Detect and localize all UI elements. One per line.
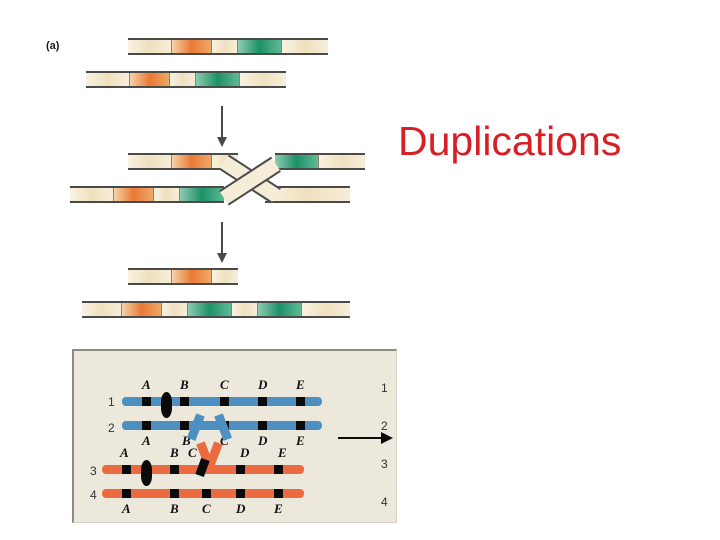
chromosome-deletion-product <box>128 268 238 285</box>
segment-cream <box>240 73 286 86</box>
gene-label-orange-bottom-e: E <box>274 501 283 517</box>
result-arrow-icon <box>338 437 382 439</box>
panel-label-a: (a) <box>46 40 59 52</box>
gene-label-blue-top-c: C <box>220 377 229 393</box>
chromosome-crossover-lower-left <box>70 186 224 203</box>
band-blue-2-d <box>258 421 267 430</box>
gene-label-blue-bottom-d: D <box>258 433 267 449</box>
gene-label-orange-bottom-b: B <box>170 501 179 517</box>
segment-cream <box>232 303 258 316</box>
band-blue-1-d <box>258 397 267 406</box>
segment-green <box>196 73 240 86</box>
gene-label-blue-top-b: B <box>180 377 189 393</box>
segment-cream <box>70 188 114 201</box>
band-blue-2-e <box>296 421 305 430</box>
gene-label-blue-top-d: D <box>258 377 267 393</box>
segment-orange <box>122 303 162 316</box>
gene-label-orange-top-b: B <box>170 445 179 461</box>
gene-label-blue-top-e: E <box>296 377 305 393</box>
band-orange-3-b <box>170 465 179 474</box>
segment-cream <box>212 270 238 283</box>
band-orange-3-a <box>122 465 131 474</box>
band-blue-2-a <box>142 421 151 430</box>
band-orange-4-c <box>202 489 211 498</box>
segment-orange <box>130 73 170 86</box>
band-orange-4-b <box>170 489 179 498</box>
labelled-chromosome-panel: 1 2 3 4 A B C D E A B C D E A B C D E <box>72 349 397 523</box>
row-number-left-1: 1 <box>108 395 115 409</box>
band-blue-1-e <box>296 397 305 406</box>
segment-orange <box>114 188 154 201</box>
centromere-blue <box>161 392 172 418</box>
row-number-left-2: 2 <box>108 421 115 435</box>
row-number-right-2: 2 <box>381 419 388 433</box>
chromosome-duplication-product <box>82 301 350 318</box>
row-number-right-3: 3 <box>381 457 388 471</box>
segment-cream <box>319 155 365 168</box>
gene-label-orange-top-c: C <box>188 445 197 461</box>
band-orange-4-d <box>236 489 245 498</box>
segment-orange <box>172 40 212 53</box>
segment-cream <box>154 188 180 201</box>
segment-cream <box>128 155 172 168</box>
band-orange-4-e <box>274 489 283 498</box>
page-title: Duplications <box>398 118 621 165</box>
segment-cream <box>212 40 238 53</box>
chromosome-homolog-lower <box>86 71 286 88</box>
row-number-left-4: 4 <box>90 488 97 502</box>
segment-orange <box>172 155 212 168</box>
row-number-right-4: 4 <box>381 495 388 509</box>
segment-green <box>238 40 282 53</box>
segment-cream <box>302 303 350 316</box>
segment-cream <box>128 270 172 283</box>
row-number-left-3: 3 <box>90 464 97 478</box>
band-blue-1-c <box>220 397 229 406</box>
segment-orange <box>172 270 212 283</box>
gene-label-orange-top-a: A <box>120 445 129 461</box>
band-blue-2-b <box>180 421 189 430</box>
gene-label-orange-bottom-c: C <box>202 501 211 517</box>
segment-green <box>188 303 232 316</box>
gene-label-orange-bottom-d: D <box>236 501 245 517</box>
gene-label-blue-top-a: A <box>142 377 151 393</box>
segment-green <box>258 303 302 316</box>
gene-label-orange-bottom-a: A <box>122 501 131 517</box>
band-orange-3-d <box>236 465 245 474</box>
band-orange-3-e <box>274 465 283 474</box>
process-arrow-1 <box>221 106 223 138</box>
chromosome-homolog-upper <box>128 38 328 55</box>
segment-cream <box>86 73 130 86</box>
segment-cream <box>170 73 196 86</box>
segment-cream <box>128 40 172 53</box>
gene-label-blue-bottom-e: E <box>296 433 305 449</box>
segment-cream <box>162 303 188 316</box>
unequal-crossover-diagram <box>70 30 350 320</box>
gene-label-orange-top-d: D <box>240 445 249 461</box>
segment-green <box>180 188 224 201</box>
band-orange-4-a <box>122 489 131 498</box>
centromere-orange <box>141 460 152 486</box>
segment-cream <box>82 303 122 316</box>
gene-label-blue-bottom-a: A <box>142 433 151 449</box>
segment-cream <box>282 40 328 53</box>
band-blue-1-a <box>142 397 151 406</box>
gene-label-orange-top-e: E <box>278 445 287 461</box>
row-number-right-1: 1 <box>381 381 388 395</box>
process-arrow-2 <box>221 222 223 254</box>
crossover-x-strands <box>222 150 292 206</box>
band-blue-1-b <box>180 397 189 406</box>
